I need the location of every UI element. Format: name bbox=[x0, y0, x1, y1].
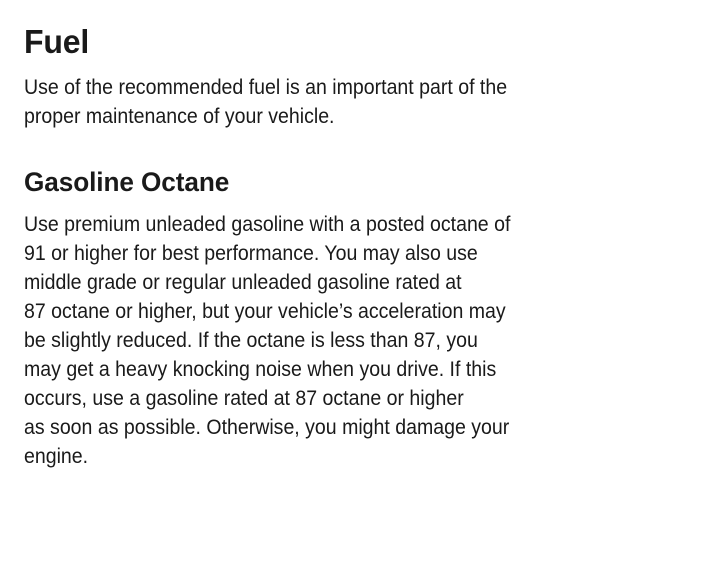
page-title: Fuel bbox=[24, 0, 660, 60]
section-fuel: Fuel Use of the recommended fuel is an i… bbox=[24, 0, 680, 131]
section-heading-gasoline-octane: Gasoline Octane bbox=[24, 131, 660, 197]
document-page: Fuel Use of the recommended fuel is an i… bbox=[0, 0, 704, 563]
section-gasoline-octane: Gasoline Octane Use premium unleaded gas… bbox=[24, 131, 680, 471]
gasoline-octane-paragraph: Use premium unleaded gasoline with a pos… bbox=[24, 197, 656, 471]
fuel-intro-paragraph: Use of the recommended fuel is an import… bbox=[24, 60, 656, 131]
